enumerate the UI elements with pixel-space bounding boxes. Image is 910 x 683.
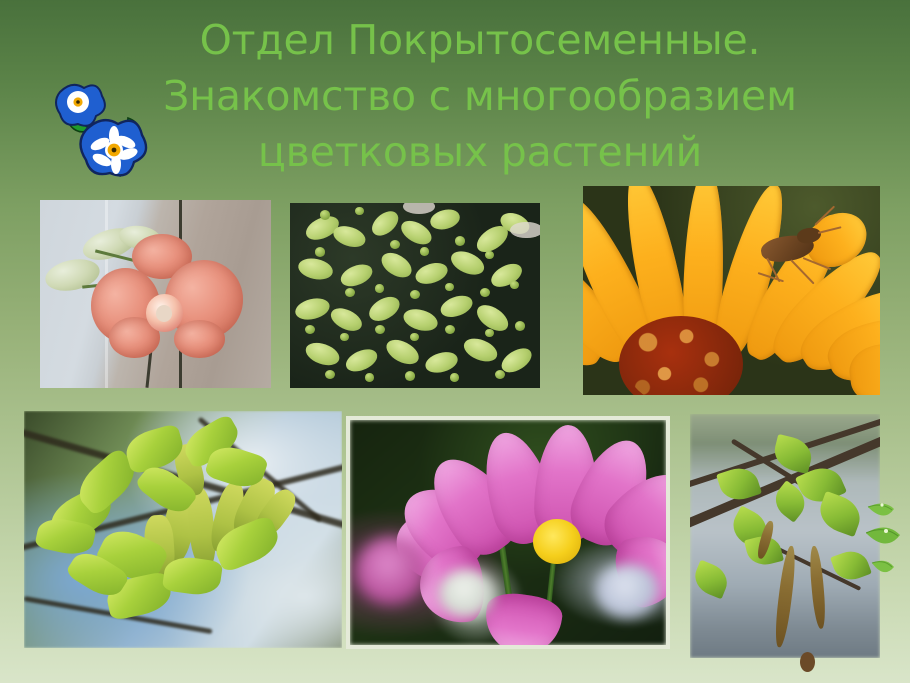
title-line-2: Знакомство с многообразием (120, 68, 840, 124)
photo-birch[interactable] (690, 414, 880, 658)
leaf-accent-1 (868, 503, 894, 515)
orchid-petal-lower-right (174, 320, 225, 358)
duckweed-bead (325, 370, 335, 379)
photo-calendula[interactable] (583, 186, 880, 395)
birch-catkin-tip-overflow (800, 652, 815, 672)
duckweed-bead (355, 207, 364, 215)
duckweed-bead (375, 284, 384, 292)
blue-flower-clipart-icon (38, 74, 148, 182)
duckweed-bead (405, 371, 415, 380)
title-line-3: цветковых растений (120, 124, 840, 180)
small-blue-flower-icon (56, 85, 105, 126)
duckweed-bead (420, 247, 429, 255)
edge-leaves-decoration (866, 495, 910, 595)
leaf-accent-2 (866, 527, 900, 543)
photo-orchid[interactable] (40, 200, 271, 388)
duckweed-bead (315, 247, 325, 256)
cosmos-disc-center (533, 519, 580, 564)
leaf-accent-3 (872, 561, 894, 572)
large-blue-flower-icon (81, 120, 147, 175)
presentation-slide: Отдел Покрытосеменные. Знакомство с мног… (0, 0, 910, 683)
photo-oak[interactable] (24, 411, 342, 648)
cosmos-bokeh-white (438, 569, 495, 619)
duckweed-debris (510, 222, 540, 239)
duckweed-bead (445, 283, 454, 291)
title-line-1: Отдел Покрытосеменные. (120, 12, 840, 68)
duckweed-bead (320, 210, 330, 219)
duckweed-bead (515, 321, 525, 330)
duckweed-bead (410, 333, 419, 341)
duckweed-bead (510, 281, 519, 289)
photo-duckweed[interactable] (290, 203, 540, 388)
cosmos-bokeh-lilac (596, 564, 659, 618)
cosmos-bokeh-pink (356, 537, 426, 605)
slide-title: Отдел Покрытосеменные. Знакомство с мног… (120, 12, 840, 180)
duckweed-bead (450, 373, 459, 381)
duckweed-bead (340, 333, 349, 341)
duckweed-bead (485, 329, 494, 337)
photo-cosmos[interactable] (346, 416, 670, 649)
orchid-column (156, 305, 172, 322)
duckweed-bead (455, 236, 465, 245)
duckweed-bead (365, 373, 374, 381)
duckweed-bead (495, 370, 505, 379)
